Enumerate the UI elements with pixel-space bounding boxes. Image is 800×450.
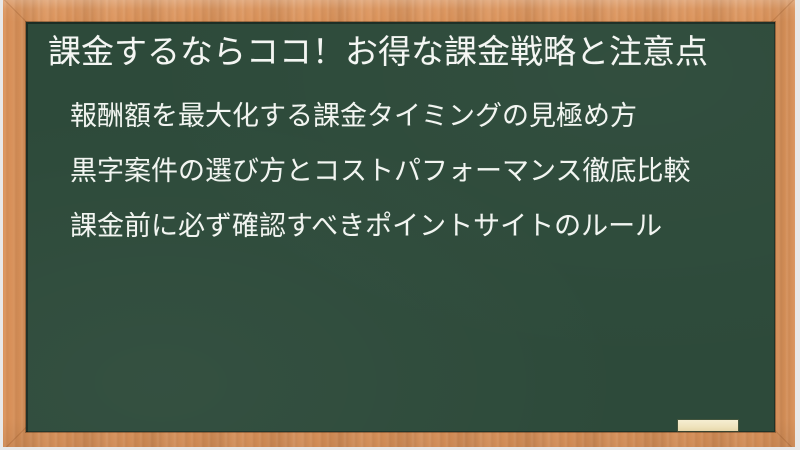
chalkboard-content: 課金するならココ！お得な課金戦略と注意点 報酬額を最大化する課金タイミングの見極… bbox=[26, 22, 775, 258]
chalk-stick-icon bbox=[678, 420, 738, 431]
page-title: 課金するならココ！お得な課金戦略と注意点 bbox=[48, 28, 753, 75]
chalkboard-wooden-frame: 課金するならココ！お得な課金戦略と注意点 報酬額を最大化する課金タイミングの見極… bbox=[3, 0, 795, 447]
slide-canvas: 課金するならココ！お得な課金戦略と注意点 報酬額を最大化する課金タイミングの見極… bbox=[0, 0, 800, 450]
topic-list: 報酬額を最大化する課金タイミングの見極め方 黒字案件の選び方とコストパフォーマン… bbox=[48, 93, 753, 249]
chalkboard-surface: 課金するならココ！お得な課金戦略と注意点 報酬額を最大化する課金タイミングの見極… bbox=[26, 22, 775, 432]
list-item: 課金前に必ず確認すべきポイントサイトのルール bbox=[70, 203, 753, 249]
list-item: 報酬額を最大化する課金タイミングの見極め方 bbox=[70, 93, 753, 139]
list-item: 黒字案件の選び方とコストパフォーマンス徹底比較 bbox=[70, 148, 753, 194]
